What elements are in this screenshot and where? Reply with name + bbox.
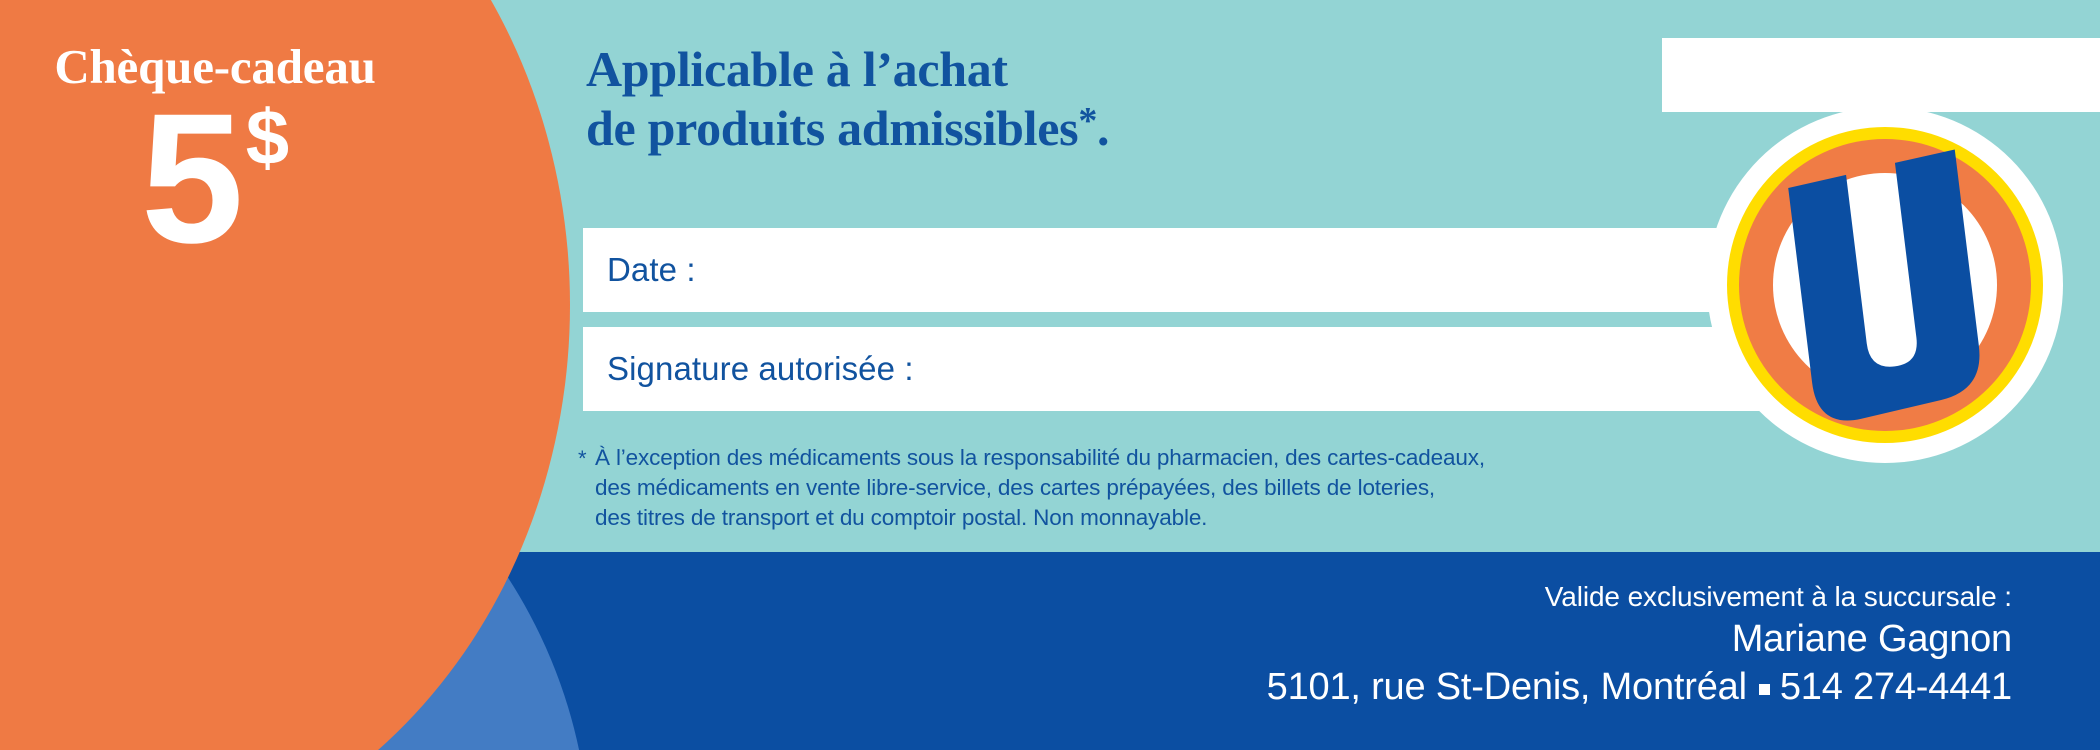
branch-address-line: 5101, rue St-Denis, Montréal514 274-4441	[1267, 663, 2012, 712]
amount-row: 5$	[0, 92, 430, 256]
uniprix-logo-svg	[1705, 105, 2065, 465]
date-field-row[interactable]: Date :	[583, 228, 1798, 312]
gift-voucher-card: Chèque-cadeau 5$ Applicable à l’achat de…	[0, 0, 2100, 750]
headline-line-2: de produits admissibles*.	[586, 99, 1109, 158]
fine-print-disclaimer: * À l’exception des médicaments sous la …	[578, 443, 1485, 533]
amount-value: 5	[141, 76, 238, 282]
headline-period: .	[1097, 100, 1109, 156]
headline-line-1: Applicable à l’achat	[586, 40, 1109, 99]
asterisk-marker: *	[1078, 100, 1097, 142]
branch-phone: 514 274-4441	[1780, 666, 2012, 708]
branch-info: Valide exclusivement à la succursale : M…	[1267, 578, 2012, 711]
uniprix-logo	[1705, 105, 2065, 465]
headline: Applicable à l’achat de produits admissi…	[586, 40, 1109, 157]
amount-panel: Chèque-cadeau 5$	[0, 0, 570, 300]
branch-name: Mariane Gagnon	[1267, 616, 2012, 663]
fine-print-line-2: des médicaments en vente libre-service, …	[595, 473, 1485, 503]
blank-note-box[interactable]	[1662, 38, 2100, 112]
fine-print-line-1: À l’exception des médicaments sous la re…	[595, 443, 1485, 473]
fine-print-asterisk: *	[578, 444, 586, 473]
branch-intro-label: Valide exclusivement à la succursale :	[1267, 578, 2012, 616]
bullet-separator-icon	[1759, 684, 1770, 695]
signature-field-row[interactable]: Signature autorisée :	[583, 327, 1798, 411]
signature-field-label: Signature autorisée :	[607, 350, 914, 388]
branch-street-address: 5101, rue St-Denis, Montréal	[1267, 666, 1747, 708]
headline-line-2-text: de produits admissibles	[586, 100, 1078, 156]
date-field-label: Date :	[607, 251, 696, 289]
fine-print-line-3: des titres de transport et du comptoir p…	[595, 503, 1485, 533]
currency-symbol: $	[246, 93, 289, 181]
